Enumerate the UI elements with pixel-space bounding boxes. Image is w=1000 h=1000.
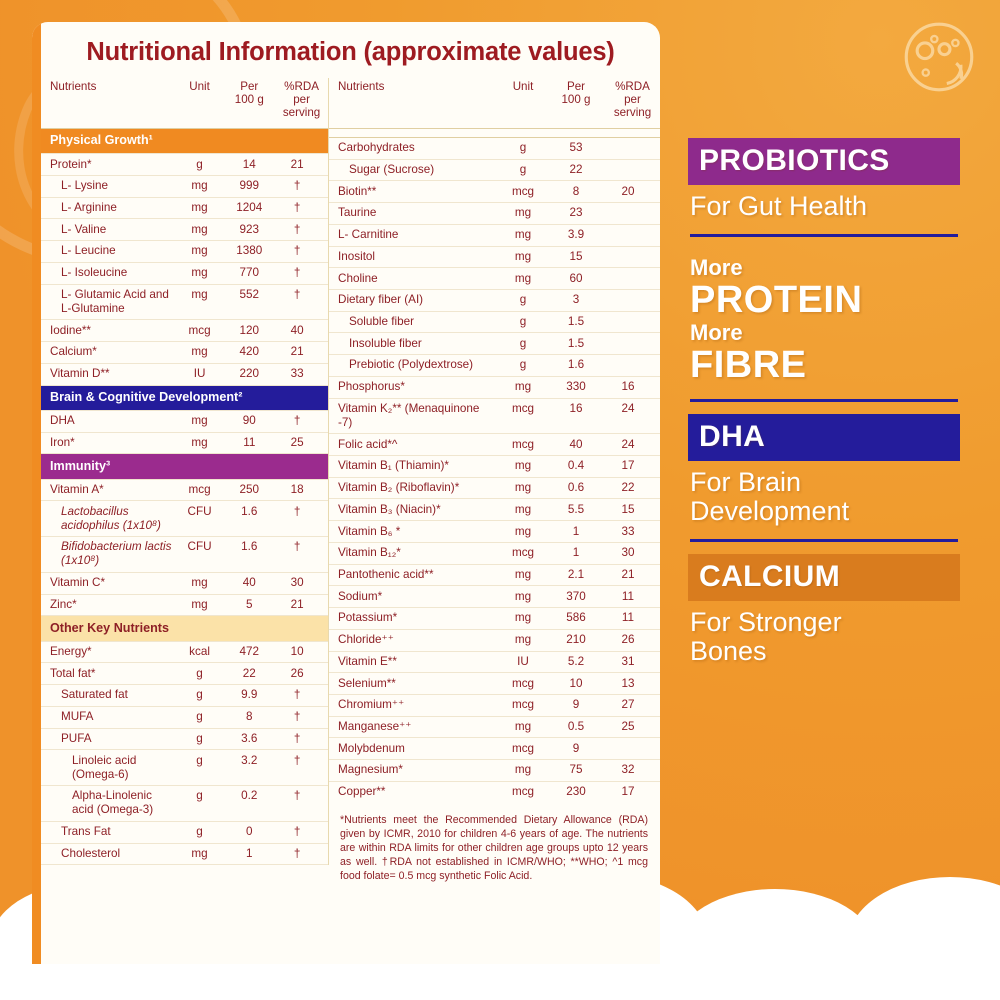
row-rda xyxy=(605,738,660,760)
row-per-100g: 23 xyxy=(547,203,605,225)
row-per-100g: 11 xyxy=(223,432,275,454)
row-per-100g: 5 xyxy=(223,594,275,616)
row-rda: 21 xyxy=(275,342,328,364)
row-unit: mg xyxy=(499,564,547,586)
row-per-100g: 1.6 xyxy=(223,501,275,537)
row-per-100g: 552 xyxy=(223,284,275,320)
claim-more-1: More xyxy=(690,256,958,280)
row-rda: † xyxy=(275,750,328,786)
row-per-100g: 120 xyxy=(223,320,275,342)
row-unit: mg xyxy=(499,203,547,225)
row-rda: 40 xyxy=(275,320,328,342)
table-row: Prebiotic (Polydextrose)g1.6 xyxy=(329,355,660,377)
row-rda: 31 xyxy=(605,651,660,673)
row-unit: g xyxy=(176,663,224,685)
col-header-nutrients: Nutrients xyxy=(41,78,176,128)
row-rda: 11 xyxy=(605,608,660,630)
claim-subtitle-line1: For Brain xyxy=(690,468,958,497)
table-spacer xyxy=(329,128,660,137)
table-row: Total fat*g2226 xyxy=(41,663,328,685)
table-row: Copper**mcg23017 xyxy=(329,781,660,802)
row-per-100g: 40 xyxy=(547,434,605,456)
row-unit: mg xyxy=(499,246,547,268)
row-per-100g: 3.6 xyxy=(223,728,275,750)
table-row: Biotin**mcg820 xyxy=(329,181,660,203)
row-rda: 20 xyxy=(605,181,660,203)
table-row: Sugar (Sucrose)g22 xyxy=(329,159,660,181)
row-per-100g: 1 xyxy=(547,542,605,564)
row-nutrient-name: Insoluble fiber xyxy=(329,333,499,355)
row-unit: mcg xyxy=(176,479,224,501)
row-rda: 21 xyxy=(605,564,660,586)
row-rda xyxy=(605,137,660,159)
table-row: Vitamin B₁₂*mcg130 xyxy=(329,542,660,564)
row-unit: mg xyxy=(499,268,547,290)
claim-plain-text: MorePROTEINMoreFIBRE xyxy=(688,249,960,386)
row-rda xyxy=(605,333,660,355)
row-per-100g: 9.9 xyxy=(223,685,275,707)
row-per-100g: 230 xyxy=(547,781,605,802)
table-row: Vitamin E**IU5.231 xyxy=(329,651,660,673)
row-rda: 11 xyxy=(605,586,660,608)
row-unit: g xyxy=(176,786,224,822)
row-per-100g: 1.5 xyxy=(547,311,605,333)
table-row: Vitamin K₂** (Menaquinone -7)mcg1624 xyxy=(329,398,660,434)
row-per-100g: 250 xyxy=(223,479,275,501)
table-row: Manganese⁺⁺mg0.525 xyxy=(329,716,660,738)
row-unit: mg xyxy=(499,456,547,478)
row-nutrient-name: L- Carnitine xyxy=(329,224,499,246)
row-nutrient-name: L- Isoleucine xyxy=(41,262,176,284)
row-unit: g xyxy=(499,137,547,159)
row-unit: mcg xyxy=(499,694,547,716)
row-nutrient-name: Alpha-Linolenic acid (Omega-3) xyxy=(41,786,176,822)
table-row: Vitamin B₁ (Thiamin)*mg0.417 xyxy=(329,456,660,478)
row-nutrient-name: Pantothenic acid** xyxy=(329,564,499,586)
row-rda: † xyxy=(275,219,328,241)
table-row: Energy*kcal47210 xyxy=(41,641,328,663)
row-nutrient-name: Total fat* xyxy=(41,663,176,685)
row-per-100g: 210 xyxy=(547,629,605,651)
row-unit: mcg xyxy=(499,781,547,802)
claim-subtitle: For BrainDevelopment xyxy=(688,461,960,526)
row-per-100g: 22 xyxy=(547,159,605,181)
row-per-100g: 0 xyxy=(223,821,275,843)
table-row: L- Lysinemg999† xyxy=(41,176,328,198)
col-header-rda: %RDAper serving xyxy=(275,78,328,128)
table-row: DHAmg90† xyxy=(41,410,328,432)
row-unit: g xyxy=(499,355,547,377)
row-rda: † xyxy=(275,410,328,432)
section-header-label: Immunity³ xyxy=(41,454,328,479)
row-nutrient-name: Folic acid*^ xyxy=(329,434,499,456)
row-unit: mg xyxy=(176,843,224,865)
row-nutrient-name: Selenium** xyxy=(329,673,499,695)
row-rda: 10 xyxy=(275,641,328,663)
row-per-100g: 3.9 xyxy=(547,224,605,246)
row-rda: † xyxy=(275,501,328,537)
row-rda: 26 xyxy=(275,663,328,685)
row-rda xyxy=(605,289,660,311)
col-header-per: Per100 g xyxy=(547,78,605,128)
row-unit: mg xyxy=(499,629,547,651)
table-header-row: Nutrients Unit Per100 g %RDAper serving xyxy=(41,78,328,128)
claim-protein: PROTEIN xyxy=(690,280,958,321)
table-row: Folic acid*^mcg4024 xyxy=(329,434,660,456)
table-row: Carbohydratesg53 xyxy=(329,137,660,159)
col-header-unit: Unit xyxy=(176,78,224,128)
table-row: Cholinemg60 xyxy=(329,268,660,290)
row-rda: 32 xyxy=(605,760,660,782)
row-nutrient-name: Taurine xyxy=(329,203,499,225)
row-rda: 25 xyxy=(275,432,328,454)
claim-divider xyxy=(690,539,958,542)
section-header-immunity: Immunity³ xyxy=(41,454,328,479)
row-unit: mg xyxy=(499,376,547,398)
nutrition-tables: Nutrients Unit Per100 g %RDAper serving … xyxy=(41,78,660,883)
table-row: Inositolmg15 xyxy=(329,246,660,268)
row-nutrient-name: Saturated fat xyxy=(41,685,176,707)
table-row: Vitamin B₃ (Niacin)*mg5.515 xyxy=(329,499,660,521)
row-per-100g: 10 xyxy=(547,673,605,695)
row-nutrient-name: L- Arginine xyxy=(41,197,176,219)
table-row: Linoleic acid (Omega-6)g3.2† xyxy=(41,750,328,786)
row-rda: † xyxy=(275,284,328,320)
row-rda: † xyxy=(275,843,328,865)
row-per-100g: 472 xyxy=(223,641,275,663)
row-per-100g: 8 xyxy=(223,706,275,728)
row-nutrient-name: Vitamin A* xyxy=(41,479,176,501)
row-nutrient-name: Magnesium* xyxy=(329,760,499,782)
row-unit: mcg xyxy=(499,181,547,203)
table-row: Saturated fatg9.9† xyxy=(41,685,328,707)
row-nutrient-name: Vitamin B₂ (Riboflavin)* xyxy=(329,477,499,499)
row-nutrient-name: Iodine** xyxy=(41,320,176,342)
row-per-100g: 1.6 xyxy=(223,537,275,573)
row-rda: † xyxy=(275,821,328,843)
row-unit: mg xyxy=(176,241,224,263)
row-unit: IU xyxy=(499,651,547,673)
claim-subtitle-line1: For Gut Health xyxy=(690,192,958,221)
row-per-100g: 0.2 xyxy=(223,786,275,822)
row-per-100g: 2.1 xyxy=(547,564,605,586)
claim-subtitle-line2: Development xyxy=(690,497,958,526)
claim-block-calcium: CALCIUMFor StrongerBones xyxy=(688,554,960,666)
table-row: L- Argininemg1204† xyxy=(41,197,328,219)
row-per-100g: 16 xyxy=(547,398,605,434)
row-nutrient-name: Soluble fiber xyxy=(329,311,499,333)
table-row: Iodine**mcg12040 xyxy=(41,320,328,342)
row-per-100g: 1 xyxy=(547,521,605,543)
row-per-100g: 53 xyxy=(547,137,605,159)
table-row: Soluble fiberg1.5 xyxy=(329,311,660,333)
row-unit: mcg xyxy=(499,673,547,695)
row-per-100g: 90 xyxy=(223,410,275,432)
row-nutrient-name: Linoleic acid (Omega-6) xyxy=(41,750,176,786)
row-per-100g: 770 xyxy=(223,262,275,284)
row-nutrient-name: Prebiotic (Polydextrose) xyxy=(329,355,499,377)
row-unit: CFU xyxy=(176,501,224,537)
table-row: L- Valinemg923† xyxy=(41,219,328,241)
row-rda: † xyxy=(275,786,328,822)
row-per-100g: 75 xyxy=(547,760,605,782)
row-rda: 26 xyxy=(605,629,660,651)
row-rda: 15 xyxy=(605,499,660,521)
row-unit: g xyxy=(176,750,224,786)
row-per-100g: 370 xyxy=(547,586,605,608)
row-rda xyxy=(605,159,660,181)
claim-subtitle-line1: For Stronger xyxy=(690,608,958,637)
row-nutrient-name: Copper** xyxy=(329,781,499,802)
row-unit: g xyxy=(499,311,547,333)
row-rda: † xyxy=(275,197,328,219)
row-nutrient-name: Vitamin C* xyxy=(41,572,176,594)
row-nutrient-name: Choline xyxy=(329,268,499,290)
row-rda: 30 xyxy=(605,542,660,564)
row-rda: 16 xyxy=(605,376,660,398)
row-nutrient-name: Vitamin E** xyxy=(329,651,499,673)
row-nutrient-name: MUFA xyxy=(41,706,176,728)
section-header-label: Other Key Nutrients xyxy=(41,616,328,641)
row-unit: g xyxy=(176,154,224,176)
claim-divider xyxy=(690,399,958,402)
row-rda xyxy=(605,224,660,246)
row-per-100g: 14 xyxy=(223,154,275,176)
claim-fibre: FIBRE xyxy=(690,345,958,386)
claim-subtitle-line2: Bones xyxy=(690,637,958,666)
table-row: L- Glutamic Acid and L-Glutaminemg552† xyxy=(41,284,328,320)
row-nutrient-name: Iron* xyxy=(41,432,176,454)
row-unit: mg xyxy=(499,586,547,608)
row-unit: mg xyxy=(176,594,224,616)
footnote: *Nutrients meet the Recommended Dietary … xyxy=(329,803,660,883)
row-nutrient-name: Vitamin B₁ (Thiamin)* xyxy=(329,456,499,478)
table-row: Trans Fatg0† xyxy=(41,821,328,843)
row-per-100g: 3.2 xyxy=(223,750,275,786)
row-nutrient-name: Sodium* xyxy=(329,586,499,608)
row-per-100g: 1.5 xyxy=(547,333,605,355)
table-row: L- Isoleucinemg770† xyxy=(41,262,328,284)
row-unit: mg xyxy=(499,521,547,543)
row-nutrient-name: Chloride⁺⁺ xyxy=(329,629,499,651)
row-nutrient-name: Molybdenum xyxy=(329,738,499,760)
row-per-100g: 5.2 xyxy=(547,651,605,673)
row-nutrient-name: Vitamin B₁₂* xyxy=(329,542,499,564)
row-unit: mg xyxy=(176,197,224,219)
claim-badge-dha: DHA xyxy=(688,414,960,461)
row-nutrient-name: Lactobacillus acidophilus (1x10⁸) xyxy=(41,501,176,537)
table-row: Vitamin D**IU22033 xyxy=(41,363,328,385)
table-row: Calcium*mg42021 xyxy=(41,342,328,364)
row-nutrient-name: Carbohydrates xyxy=(329,137,499,159)
table-row: Iron*mg1125 xyxy=(41,432,328,454)
row-unit: IU xyxy=(176,363,224,385)
section-header-brain: Brain & Cognitive Development² xyxy=(41,385,328,410)
row-rda: 21 xyxy=(275,154,328,176)
claim-block-dha: DHAFor BrainDevelopment xyxy=(688,414,960,526)
table-row: Phosphorus*mg33016 xyxy=(329,376,660,398)
table-row: Dietary fiber (AI)g3 xyxy=(329,289,660,311)
row-rda xyxy=(605,268,660,290)
row-per-100g: 420 xyxy=(223,342,275,364)
row-nutrient-name: L- Glutamic Acid and L-Glutamine xyxy=(41,284,176,320)
table-header-row: Nutrients Unit Per100 g %RDAper serving xyxy=(329,78,660,128)
claim-divider xyxy=(690,234,958,237)
row-unit: g xyxy=(499,159,547,181)
table-row: Chloride⁺⁺mg21026 xyxy=(329,629,660,651)
table-row: Vitamin B₆ *mg133 xyxy=(329,521,660,543)
row-rda: † xyxy=(275,241,328,263)
table-row: Taurinemg23 xyxy=(329,203,660,225)
row-nutrient-name: DHA xyxy=(41,410,176,432)
row-nutrient-name: Chromium⁺⁺ xyxy=(329,694,499,716)
row-per-100g: 22 xyxy=(223,663,275,685)
col-header-nutrients: Nutrients xyxy=(329,78,499,128)
table-row: Molybdenummcg9 xyxy=(329,738,660,760)
row-rda: † xyxy=(275,262,328,284)
table-row: Chromium⁺⁺mcg927 xyxy=(329,694,660,716)
claim-block-protein-fibre: MorePROTEINMoreFIBRE xyxy=(688,249,960,386)
table-row: Sodium*mg37011 xyxy=(329,586,660,608)
row-rda: 30 xyxy=(275,572,328,594)
claim-more-2: More xyxy=(690,321,958,345)
table-row: Potassium*mg58611 xyxy=(329,608,660,630)
table-row: L- Leucinemg1380† xyxy=(41,241,328,263)
row-per-100g: 8 xyxy=(547,181,605,203)
row-rda: 25 xyxy=(605,716,660,738)
nutrition-table-left: Nutrients Unit Per100 g %RDAper serving … xyxy=(41,78,329,865)
row-per-100g: 1.6 xyxy=(547,355,605,377)
table-row: Lactobacillus acidophilus (1x10⁸)CFU1.6† xyxy=(41,501,328,537)
row-rda: † xyxy=(275,685,328,707)
table-row: L- Carnitinemg3.9 xyxy=(329,224,660,246)
table-row: Insoluble fiberg1.5 xyxy=(329,333,660,355)
row-nutrient-name: Potassium* xyxy=(329,608,499,630)
row-rda: † xyxy=(275,537,328,573)
row-per-100g: 586 xyxy=(547,608,605,630)
row-per-100g: 15 xyxy=(547,246,605,268)
table-row: Vitamin C*mg4030 xyxy=(41,572,328,594)
card-left-accent xyxy=(32,22,41,964)
row-per-100g: 40 xyxy=(223,572,275,594)
row-nutrient-name: L- Leucine xyxy=(41,241,176,263)
row-per-100g: 5.5 xyxy=(547,499,605,521)
row-unit: mg xyxy=(176,176,224,198)
section-header-other: Other Key Nutrients xyxy=(41,616,328,641)
table-row: Vitamin B₂ (Riboflavin)*mg0.622 xyxy=(329,477,660,499)
row-nutrient-name: Vitamin K₂** (Menaquinone -7) xyxy=(329,398,499,434)
row-unit: mg xyxy=(499,224,547,246)
row-unit: mg xyxy=(176,572,224,594)
page-title: Nutritional Information (approximate val… xyxy=(41,22,660,78)
table-row: PUFAg3.6† xyxy=(41,728,328,750)
table-row: Alpha-Linolenic acid (Omega-3)g0.2† xyxy=(41,786,328,822)
row-rda: 27 xyxy=(605,694,660,716)
row-rda: 17 xyxy=(605,781,660,802)
row-per-100g: 0.4 xyxy=(547,456,605,478)
row-per-100g: 1380 xyxy=(223,241,275,263)
row-unit: mcg xyxy=(176,320,224,342)
row-rda xyxy=(605,355,660,377)
row-per-100g: 60 xyxy=(547,268,605,290)
row-unit: kcal xyxy=(176,641,224,663)
claim-badge-probiotics: PROBIOTICS xyxy=(688,138,960,185)
row-unit: mcg xyxy=(499,542,547,564)
row-nutrient-name: Calcium* xyxy=(41,342,176,364)
section-header-label: Physical Growth¹ xyxy=(41,128,328,153)
row-rda: 24 xyxy=(605,398,660,434)
row-per-100g: 9 xyxy=(547,694,605,716)
row-nutrient-name: Protein* xyxy=(41,154,176,176)
row-unit: g xyxy=(499,289,547,311)
row-rda: 18 xyxy=(275,479,328,501)
table-row: MUFAg8† xyxy=(41,706,328,728)
row-unit: mg xyxy=(499,499,547,521)
row-nutrient-name: Trans Fat xyxy=(41,821,176,843)
row-per-100g: 0.6 xyxy=(547,477,605,499)
table-row: Cholesterolmg1† xyxy=(41,843,328,865)
row-unit: mcg xyxy=(499,738,547,760)
row-nutrient-name: Manganese⁺⁺ xyxy=(329,716,499,738)
nutrition-table-right: Nutrients Unit Per100 g %RDAper serving … xyxy=(329,78,660,883)
row-nutrient-name: Cholesterol xyxy=(41,843,176,865)
row-per-100g: 923 xyxy=(223,219,275,241)
row-rda: † xyxy=(275,176,328,198)
row-nutrient-name: L- Valine xyxy=(41,219,176,241)
row-per-100g: 3 xyxy=(547,289,605,311)
row-per-100g: 330 xyxy=(547,376,605,398)
row-nutrient-name: Biotin** xyxy=(329,181,499,203)
row-rda: 33 xyxy=(275,363,328,385)
table-row: Selenium**mcg1013 xyxy=(329,673,660,695)
row-unit: mg xyxy=(499,760,547,782)
row-unit: mg xyxy=(176,342,224,364)
row-nutrient-name: Zinc* xyxy=(41,594,176,616)
row-per-100g: 1 xyxy=(223,843,275,865)
table-row: Magnesium*mg7532 xyxy=(329,760,660,782)
row-unit: g xyxy=(499,333,547,355)
claim-subtitle: For StrongerBones xyxy=(688,601,960,666)
col-header-rda: %RDAper serving xyxy=(605,78,660,128)
row-nutrient-name: Vitamin D** xyxy=(41,363,176,385)
table-row: Bifidobacterium lactis (1x10⁸)CFU1.6† xyxy=(41,537,328,573)
table-row: Protein*g1421 xyxy=(41,154,328,176)
row-nutrient-name: Sugar (Sucrose) xyxy=(329,159,499,181)
row-nutrient-name: Phosphorus* xyxy=(329,376,499,398)
row-rda xyxy=(605,246,660,268)
row-rda: 13 xyxy=(605,673,660,695)
row-nutrient-name: Dietary fiber (AI) xyxy=(329,289,499,311)
row-unit: mg xyxy=(176,432,224,454)
row-unit: mg xyxy=(176,410,224,432)
row-rda: 17 xyxy=(605,456,660,478)
table-row: Pantothenic acid**mg2.121 xyxy=(329,564,660,586)
row-nutrient-name: Vitamin B₃ (Niacin)* xyxy=(329,499,499,521)
row-unit: mg xyxy=(499,608,547,630)
claim-block-probiotics: PROBIOTICSFor Gut Health xyxy=(688,138,960,221)
row-unit: g xyxy=(176,706,224,728)
table-row: Vitamin A*mcg25018 xyxy=(41,479,328,501)
row-unit: mg xyxy=(176,219,224,241)
row-rda: † xyxy=(275,706,328,728)
row-unit: mg xyxy=(499,477,547,499)
row-per-100g: 0.5 xyxy=(547,716,605,738)
row-unit: mcg xyxy=(499,398,547,434)
bubble-icon xyxy=(900,18,978,96)
row-unit: mg xyxy=(176,262,224,284)
row-rda: 21 xyxy=(275,594,328,616)
row-nutrient-name: Energy* xyxy=(41,641,176,663)
